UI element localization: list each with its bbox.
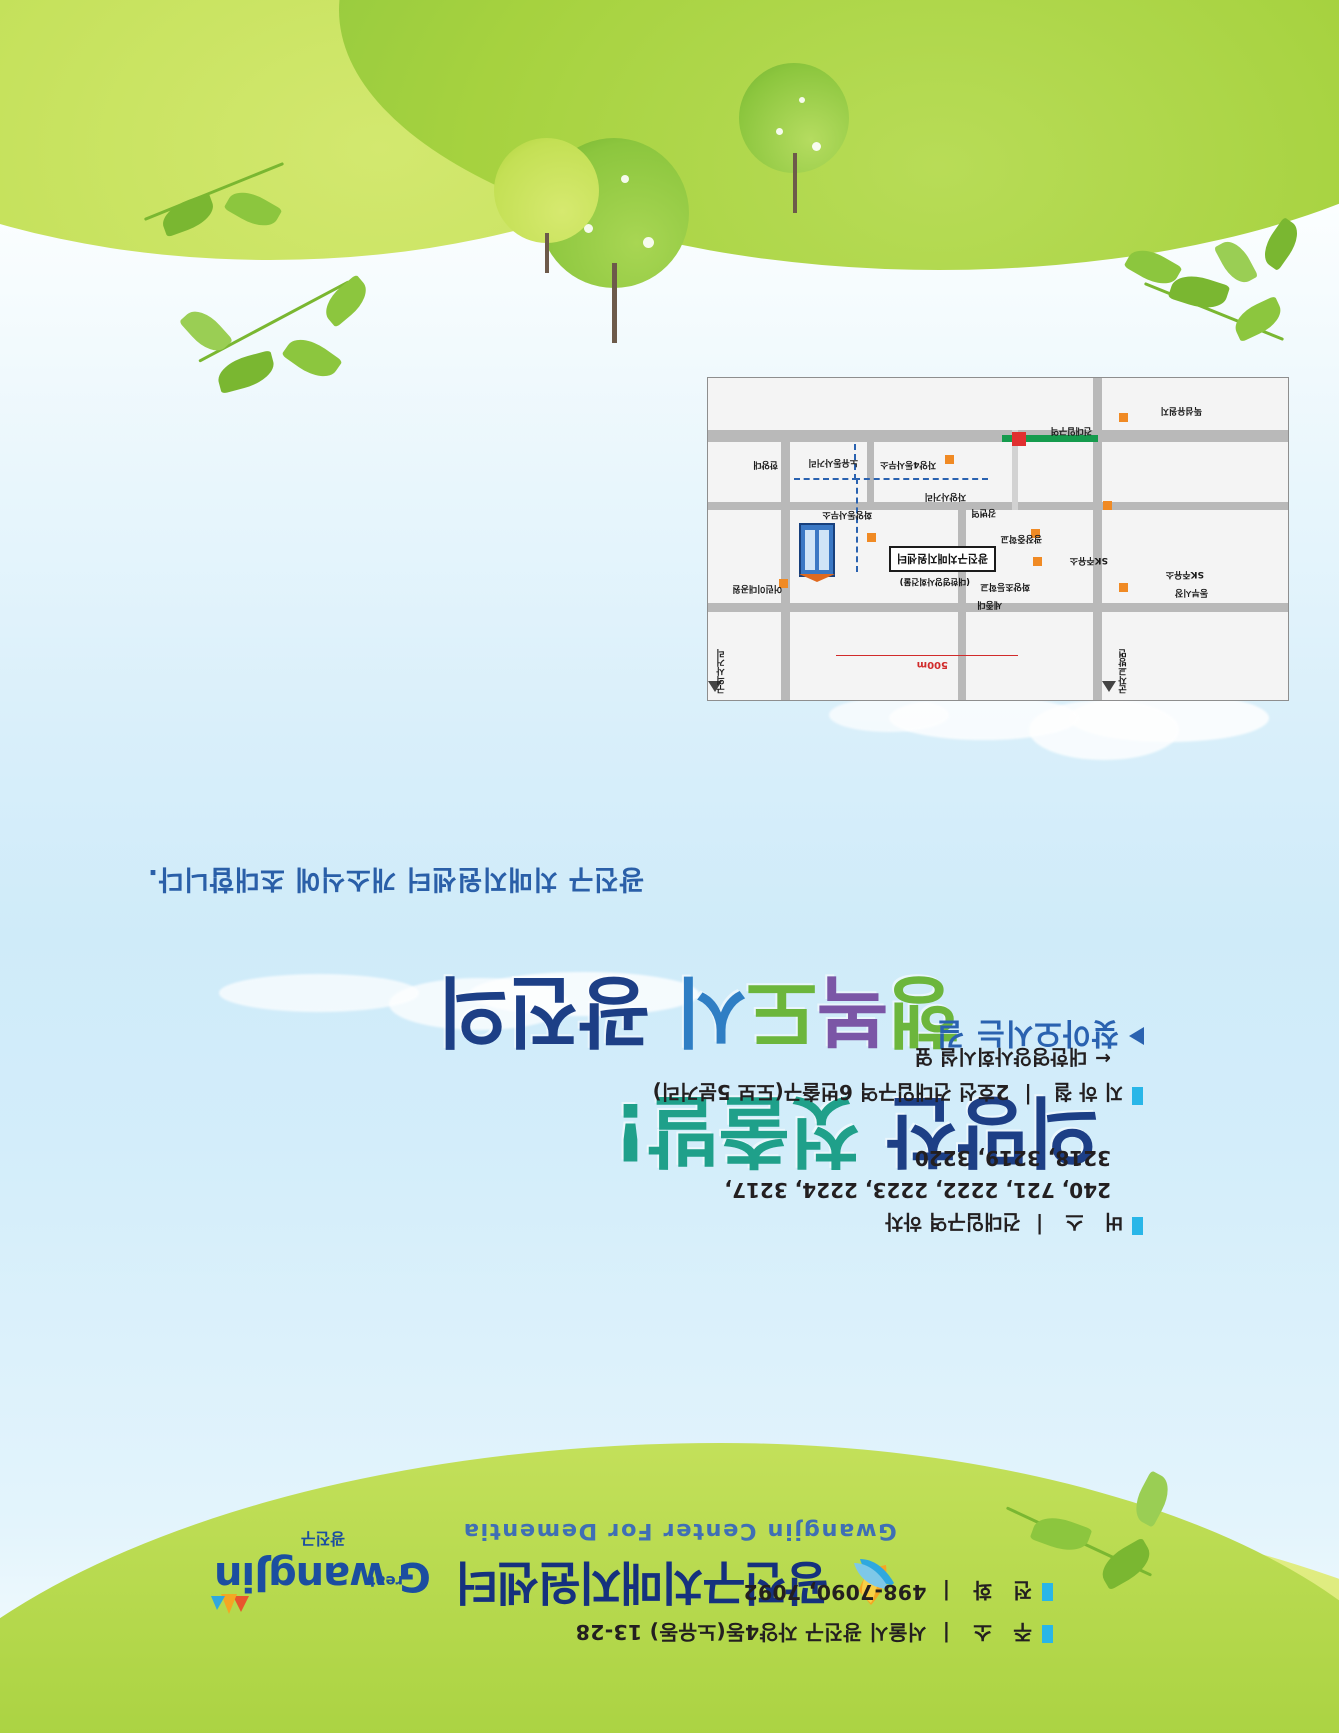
decor-hanging-tree-3 — [489, 103, 599, 273]
bus-separator: | — [1036, 1214, 1043, 1238]
map-label-hwayang-es: 화양초등학교 — [980, 581, 1030, 594]
phone-row: 전 화 | 498-7090, 7092 — [576, 1577, 1053, 1607]
address-separator: | — [942, 1622, 950, 1646]
decor-leaf-spray-left — [1089, 153, 1319, 353]
bus-stop: 건대입구역 하차 — [885, 1209, 1021, 1238]
map-center-building-icon — [794, 516, 836, 582]
logo-english-name: Gwangjin Center For Dementia — [457, 1518, 902, 1544]
map-label-donbu-market: 동부시장 — [1175, 587, 1208, 600]
map-label-hwayang-office: 화양동사무소 — [822, 509, 872, 522]
square-bullet-icon — [1042, 1625, 1053, 1643]
map-label-hanyang: 한양대 — [753, 459, 778, 472]
map-scale-label: 500m — [917, 659, 948, 670]
bus-numbers-line-1: 240, 721, 2222, 2223, 2224, 3217, — [523, 1175, 1111, 1205]
brand-ornament-icon — [209, 1584, 255, 1618]
leaflet-page: 광진구치매지원센터 Gwangjin Center For Dementia G… — [0, 0, 1339, 1733]
square-bullet-icon — [1132, 1217, 1143, 1235]
map-label-gundae-station: 건대입구역 — [1051, 425, 1092, 438]
address-value: 서울시 광진구 자양4동(노유동) 13-28 — [576, 1619, 927, 1649]
subway-note-row: ← 대한영양사회시설 옆 — [533, 1044, 1111, 1073]
phone-label: 전 화 — [966, 1577, 1032, 1607]
subway-info: 지하철 | 2호선 건대입구역 6번출구(도보 5분거리) ← 대한영양사회시설… — [533, 1044, 1143, 1121]
brand-sub-text: 광진구 — [215, 1528, 431, 1552]
bus-label: 버 스 — [1058, 1209, 1123, 1238]
phone-separator: | — [942, 1580, 950, 1604]
left-arrow-icon: ← — [1095, 1048, 1111, 1070]
bus-row: 버 스 | 건대입구역 하차 — [523, 1209, 1143, 1238]
map-label-school: 세종대 — [977, 599, 1002, 612]
map-label-jayang-crossing: 자양사거리 — [925, 491, 966, 504]
map-label-gwangjang-ms: 광장중학교 — [1001, 533, 1042, 546]
contact-block: 주 소 | 서울시 광진구 자양4동(노유동) 13-28 전 화 | 498-… — [576, 1577, 1053, 1649]
map-center-label: 광진구치매지원센터 — [889, 546, 996, 572]
location-map: 500m 광진구치매지원센터 (대한영양사회건물) 군자교방면 구의 — [707, 377, 1289, 701]
decor-leaf-spray-bottomright — [89, 33, 319, 233]
map-center-sublabel: (대한영양사회건물) — [900, 576, 970, 588]
phone-value: 498-7090, 7092 — [743, 1580, 926, 1604]
map-label-jayang4-office: 자양4동사무소 — [880, 459, 936, 472]
address-label: 주 소 — [966, 1619, 1032, 1649]
subway-label: 지하철 — [1047, 1079, 1123, 1108]
brand-g-letter: G — [399, 1556, 431, 1596]
brand-great-text: reat — [368, 1572, 403, 1590]
decor-hanging-tree-1 — [739, 33, 849, 213]
address-row: 주 소 | 서울시 광진구 자양4동(노유동) 13-28 — [576, 1619, 1053, 1649]
map-label-sk-gas: SK주유소 — [1070, 555, 1108, 568]
triangle-bullet-icon — [1129, 1027, 1144, 1045]
map-station-marker — [1012, 432, 1026, 446]
map-label-noyu-crossing: 노유동사거리 — [808, 457, 858, 470]
map-label-sejong: SK주유소 — [1166, 569, 1204, 582]
map-label-gangbyeon: 강변역 — [971, 507, 996, 520]
invitation-text: 광진구 치매지원센터 개소식에 초대합니다. — [147, 862, 644, 901]
bus-info: 버 스 | 건대입구역 하차 240, 721, 2222, 2223, 222… — [523, 1143, 1143, 1238]
map-label-ttukseom: 뚝섬유원지 — [1161, 405, 1202, 418]
square-bullet-icon — [1132, 1087, 1143, 1105]
map-label-dongdaemun: 구의사거리 — [715, 649, 728, 694]
map-label-kids-park: 어린이대공원 — [732, 583, 782, 596]
subway-separator: | — [1024, 1084, 1031, 1108]
square-bullet-icon — [1042, 1583, 1053, 1601]
subway-row: 지하철 | 2호선 건대입구역 6번출구(도보 5분거리) — [533, 1079, 1143, 1108]
gwangjin-brand-logo: G reat wangJin 광진구 — [215, 1528, 431, 1596]
map-label-gunjagyo: 군자교방면 — [1117, 649, 1130, 694]
subway-note: 대한영양사회시설 옆 — [915, 1044, 1088, 1073]
bus-numbers-line-2: 3218, 3219, 3220 — [523, 1143, 1111, 1173]
subway-value: 2호선 건대입구역 6번출구(도보 5분거리) — [653, 1079, 1010, 1108]
